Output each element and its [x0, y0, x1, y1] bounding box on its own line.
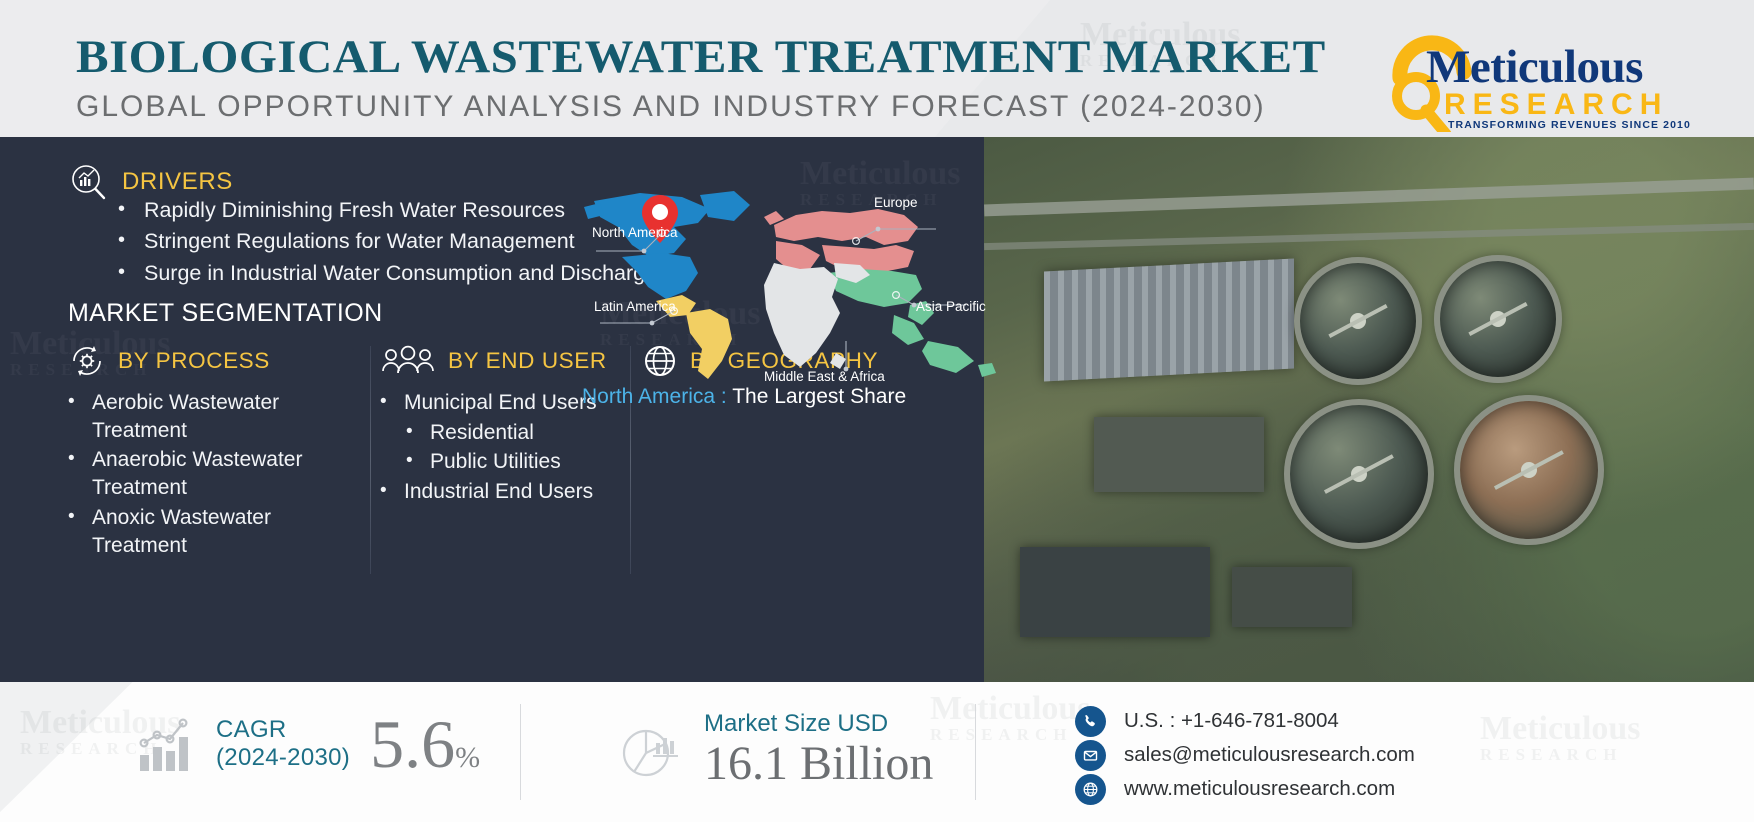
bullet-dot: • — [68, 389, 92, 444]
photo-clarifier-tank — [1434, 255, 1562, 383]
list-item: •Stringent Regulations for Water Managem… — [118, 226, 657, 257]
map-label-latin-america: Latin America — [594, 299, 676, 314]
wastewater-plant-photo — [984, 137, 1754, 682]
footer-divider — [520, 704, 521, 800]
contact-email-text: sales@meticulousresearch.com — [1124, 743, 1415, 767]
list-item-label: Aerobic Wastewater Treatment — [92, 389, 368, 444]
pie-chart-icon — [620, 719, 682, 781]
list-item: •Residential — [380, 419, 660, 447]
map-note: North America : The Largest Share — [582, 385, 906, 409]
segment-column-by-process: BY PROCESS •Aerobic Wastewater Treatment… — [68, 342, 368, 561]
list-item: •Rapidly Diminishing Fresh Water Resourc… — [118, 195, 657, 226]
footer: Meticulous RESEARCH Meticulous RESEARCH … — [0, 682, 1754, 822]
photo-clarifier-tank — [1294, 257, 1422, 385]
page-title: BIOLOGICAL WASTEWATER TREATMENT MARKET — [76, 33, 1326, 82]
contact-list: U.S. : +1-646-781-8004 sales@meticulousr… — [1075, 704, 1415, 806]
map-note-text: The Largest Share — [732, 385, 906, 408]
bullet-dot: • — [406, 419, 430, 447]
watermark-line2: RESEARCH — [930, 726, 1091, 743]
list-item: •Anaerobic Wastewater Treatment — [68, 446, 368, 501]
bullet-dot: • — [118, 226, 144, 257]
bullet-dot: • — [380, 478, 404, 506]
cagr-value: 5.6 — [370, 706, 455, 782]
list-item-label: Rapidly Diminishing Fresh Water Resource… — [144, 195, 565, 226]
bullet-dot: • — [68, 504, 92, 559]
map-label-asia-pacific: Asia Pacific — [916, 299, 986, 314]
segment-heading: BY PROCESS — [118, 348, 270, 374]
market-size-block: Market Size USD 16.1 Billion — [620, 710, 933, 791]
list-item: •Public Utilities — [380, 448, 660, 476]
contact-website-text: www.meticulousresearch.com — [1124, 777, 1395, 801]
watermark: Meticulous RESEARCH — [930, 692, 1091, 743]
cagr-value-block: 5.6% — [370, 710, 480, 778]
photo-building — [1232, 567, 1352, 627]
map-region-europe[interactable] — [764, 209, 918, 273]
cagr-block: CAGR (2024-2030) 5.6% — [136, 710, 480, 778]
header: Meticulous RESEARCH BIOLOGICAL WASTEWATE… — [0, 0, 1754, 150]
photo-building — [1020, 547, 1210, 637]
list-item: •Aerobic Wastewater Treatment — [68, 389, 368, 444]
contact-phone-text: U.S. : +1-646-781-8004 — [1124, 709, 1339, 733]
photo-clarifier-tank — [1454, 395, 1604, 545]
photo-road-secondary — [984, 223, 1754, 250]
map-label-north-america: North America — [592, 225, 678, 240]
list-item: •Surge in Industrial Water Consumption a… — [118, 258, 657, 289]
list-item-label: Stringent Regulations for Water Manageme… — [144, 226, 575, 257]
market-size-text: Market Size USD 16.1 Billion — [704, 710, 933, 791]
footer-divider — [975, 704, 976, 800]
page-subtitle: GLOBAL OPPORTUNITY ANALYSIS AND INDUSTRY… — [76, 88, 1278, 126]
globe-icon — [1075, 774, 1106, 805]
gear-cycle-icon — [68, 342, 106, 380]
photo-road — [984, 178, 1754, 217]
map-label-europe: Europe — [874, 195, 918, 210]
main-body: Meticulous RESEARCH Meticulous RESEARCH … — [0, 137, 1754, 682]
contact-website[interactable]: www.meticulousresearch.com — [1075, 772, 1415, 806]
map-label-middle-east-africa: Middle East & Africa — [764, 369, 885, 383]
infographic-poster: Meticulous RESEARCH BIOLOGICAL WASTEWATE… — [0, 0, 1754, 822]
market-size-value: 16.1 Billion — [704, 738, 933, 791]
world-map-svg: North America Europe Asia Pacific Latin … — [578, 183, 1008, 383]
list-item-label: Anoxic Wastewater Treatment — [92, 504, 368, 559]
bullet-dot: • — [68, 446, 92, 501]
users-group-icon — [380, 344, 436, 378]
world-map: North America Europe Asia Pacific Latin … — [578, 183, 1008, 383]
photo-building — [1094, 417, 1264, 492]
cagr-period: (2024-2030) — [216, 744, 350, 772]
segmentation-heading: MARKET SEGMENTATION — [68, 299, 383, 328]
bar-line-chart-icon — [136, 713, 196, 775]
segment-header: BY PROCESS — [68, 342, 368, 380]
watermark-line1: Meticulous — [1480, 712, 1641, 746]
cagr-label: CAGR — [216, 716, 350, 744]
market-size-label: Market Size USD — [704, 710, 933, 738]
title-block: BIOLOGICAL WASTEWATER TREATMENT MARKET G… — [0, 25, 1278, 126]
column-divider — [370, 346, 371, 574]
list-item: •Anoxic Wastewater Treatment — [68, 504, 368, 559]
list-item-label: Anaerobic Wastewater Treatment — [92, 446, 368, 501]
bullet-dot: • — [118, 195, 144, 226]
drivers-list: •Rapidly Diminishing Fresh Water Resourc… — [118, 195, 657, 289]
bullet-dot: • — [406, 448, 430, 476]
watermark-line2: RESEARCH — [1480, 746, 1641, 763]
cagr-unit: % — [455, 741, 480, 774]
bullet-dot: • — [118, 258, 144, 289]
list-item-label: Industrial End Users — [404, 478, 593, 506]
contact-phone[interactable]: U.S. : +1-646-781-8004 — [1075, 704, 1415, 738]
watermark-line1: Meticulous — [930, 692, 1091, 726]
email-icon — [1075, 740, 1106, 771]
map-note-highlight: North America : — [582, 385, 727, 408]
list-item-label: Public Utilities — [430, 448, 561, 476]
drivers-heading: DRIVERS — [122, 168, 233, 196]
cagr-labels: CAGR (2024-2030) — [216, 716, 350, 772]
bullet-dot: • — [380, 389, 404, 417]
list-item: •Industrial End Users — [380, 478, 660, 506]
photo-clarifier-tank — [1284, 399, 1434, 549]
map-region-middle-east-africa[interactable] — [764, 263, 870, 369]
magnifier-chart-icon — [68, 162, 108, 202]
phone-icon — [1075, 706, 1106, 737]
list-item-label: Residential — [430, 419, 534, 447]
map-region-asia-pacific[interactable] — [828, 269, 996, 377]
contact-email[interactable]: sales@meticulousresearch.com — [1075, 738, 1415, 772]
list-item-label: Municipal End Users — [404, 389, 597, 417]
segment-list: •Aerobic Wastewater Treatment •Anaerobic… — [68, 389, 368, 559]
photo-settling-basin — [1044, 258, 1294, 381]
watermark: Meticulous RESEARCH — [1480, 712, 1641, 763]
